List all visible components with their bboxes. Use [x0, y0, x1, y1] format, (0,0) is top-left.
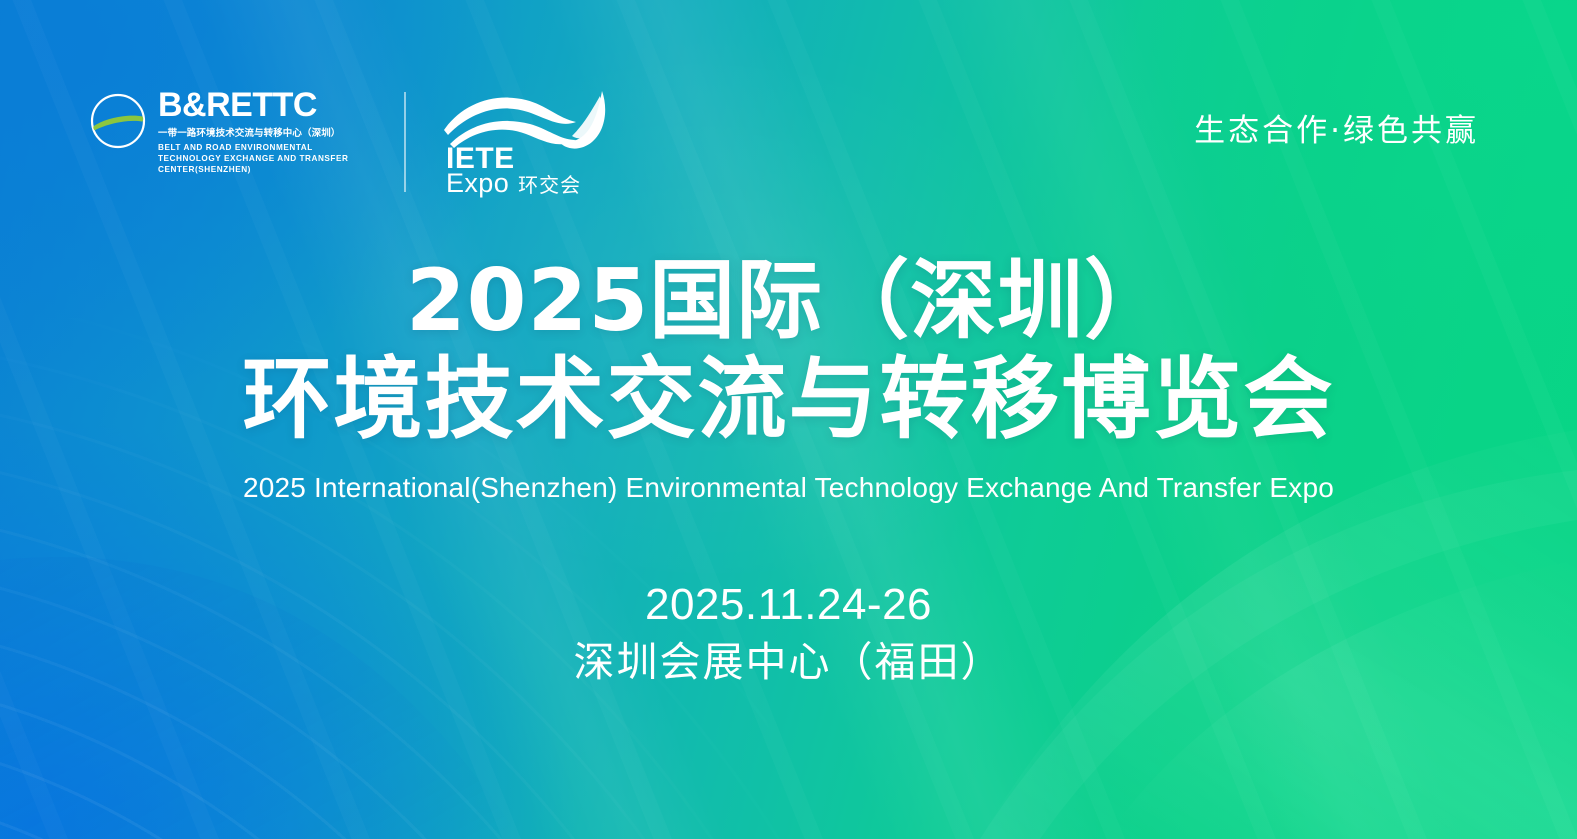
iete-expo-word: Expo [446, 170, 509, 197]
brettc-wordmark: B&RETTC [158, 88, 370, 122]
event-venue: 深圳会展中心（福田） [0, 636, 1577, 689]
banner-main-content: 2025国际（深圳） 环境技术交流与转移博览会 2025 Internation… [0, 258, 1577, 689]
logo-divider [404, 92, 406, 192]
circle-with-band-icon [88, 91, 148, 156]
banner-slogan: 生态合作·绿色共赢 [1194, 105, 1479, 150]
iete-expo-word-cn: 环交会 [518, 175, 581, 195]
iete-expo-row: Expo 环交会 [446, 170, 581, 197]
event-title-line-2: 环境技术交流与转移博览会 [0, 350, 1577, 450]
event-title-line-1: 2025国际（深圳） [0, 258, 1577, 346]
brettc-logo[interactable]: B&RETTC 一带一路环境技术交流与转移中心（深圳） BELT AND ROA… [88, 88, 370, 175]
brettc-text-block: B&RETTC 一带一路环境技术交流与转移中心（深圳） BELT AND ROA… [158, 88, 370, 175]
event-info-block: 2025.11.24-26 深圳会展中心（福田） [0, 577, 1577, 689]
event-subtitle-english: 2025 International(Shenzhen) Environment… [0, 471, 1577, 505]
brettc-name-en: BELT AND ROAD ENVIRONMENTAL TECHNOLOGY E… [158, 143, 370, 175]
iete-expo-logo[interactable]: IETE Expo 环交会 [442, 88, 612, 196]
event-banner: B&RETTC 一带一路环境技术交流与转移中心（深圳） BELT AND ROA… [0, 0, 1577, 839]
banner-header: B&RETTC 一带一路环境技术交流与转移中心（深圳） BELT AND ROA… [0, 0, 1577, 200]
brettc-name-cn: 一带一路环境技术交流与转移中心（深圳） [158, 128, 370, 140]
event-date: 2025.11.24-26 [0, 577, 1577, 632]
logo-group: B&RETTC 一带一路环境技术交流与转移中心（深圳） BELT AND ROA… [88, 88, 612, 196]
